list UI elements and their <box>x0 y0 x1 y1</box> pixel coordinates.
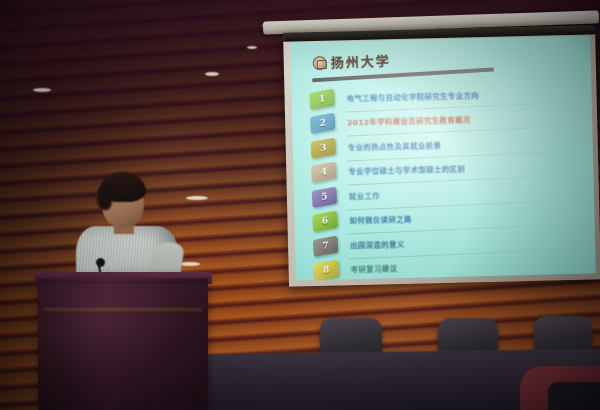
list-item-label: 就业工作 <box>349 190 380 202</box>
list-item-label: 电气工程与自动化学院研究生专业方向 <box>346 90 479 104</box>
item-number-badge: 5 <box>312 186 338 208</box>
projection-screen: 扬州大学 1 电气工程与自动化学院研究生专业方向 2 2012年学科建设及研究生… <box>283 25 600 286</box>
wall-glint <box>205 72 219 76</box>
presentation-slide: 扬州大学 1 电气工程与自动化学院研究生专业方向 2 2012年学科建设及研究生… <box>290 35 596 280</box>
item-number-badge: 7 <box>313 235 339 257</box>
podium-shading <box>38 278 208 410</box>
wall-glint <box>247 46 257 49</box>
audience-chair <box>548 382 600 410</box>
item-number-badge: 3 <box>310 137 336 159</box>
item-number-badge: 2 <box>310 113 336 135</box>
item-number-badge: 6 <box>312 211 338 233</box>
presenter-glasses <box>109 196 139 203</box>
wall-glint <box>186 196 208 200</box>
item-number-badge: 8 <box>313 260 339 281</box>
microphone-icon <box>96 258 105 267</box>
slide-logo: 扬州大学 <box>312 51 391 73</box>
university-seal-icon <box>313 55 327 69</box>
wall-glint <box>33 88 51 92</box>
university-name: 扬州大学 <box>330 51 391 72</box>
list-item-label: 如何做在读研之路 <box>349 214 412 226</box>
slide-agenda-list: 1 电气工程与自动化学院研究生专业方向 2 2012年学科建设及研究生教育概况 … <box>309 81 586 281</box>
item-number-badge: 4 <box>311 162 337 184</box>
item-number-badge: 1 <box>309 88 335 110</box>
list-item-label: 专业学位硕士与学术型硕士的区别 <box>348 164 465 178</box>
list-item-label: 2012年学科建设及研究生教育概况 <box>347 115 471 129</box>
list-item-label: 出国深造的意义 <box>350 239 405 251</box>
list-item-label: 考研复习建议 <box>351 263 398 275</box>
wall-glint <box>180 262 200 266</box>
podium <box>38 278 208 410</box>
conference-photo: 扬州大学 1 电气工程与自动化学院研究生专业方向 2 2012年学科建设及研究生… <box>0 0 600 410</box>
list-item-label: 专业的热点性及其就业前景 <box>348 140 442 153</box>
